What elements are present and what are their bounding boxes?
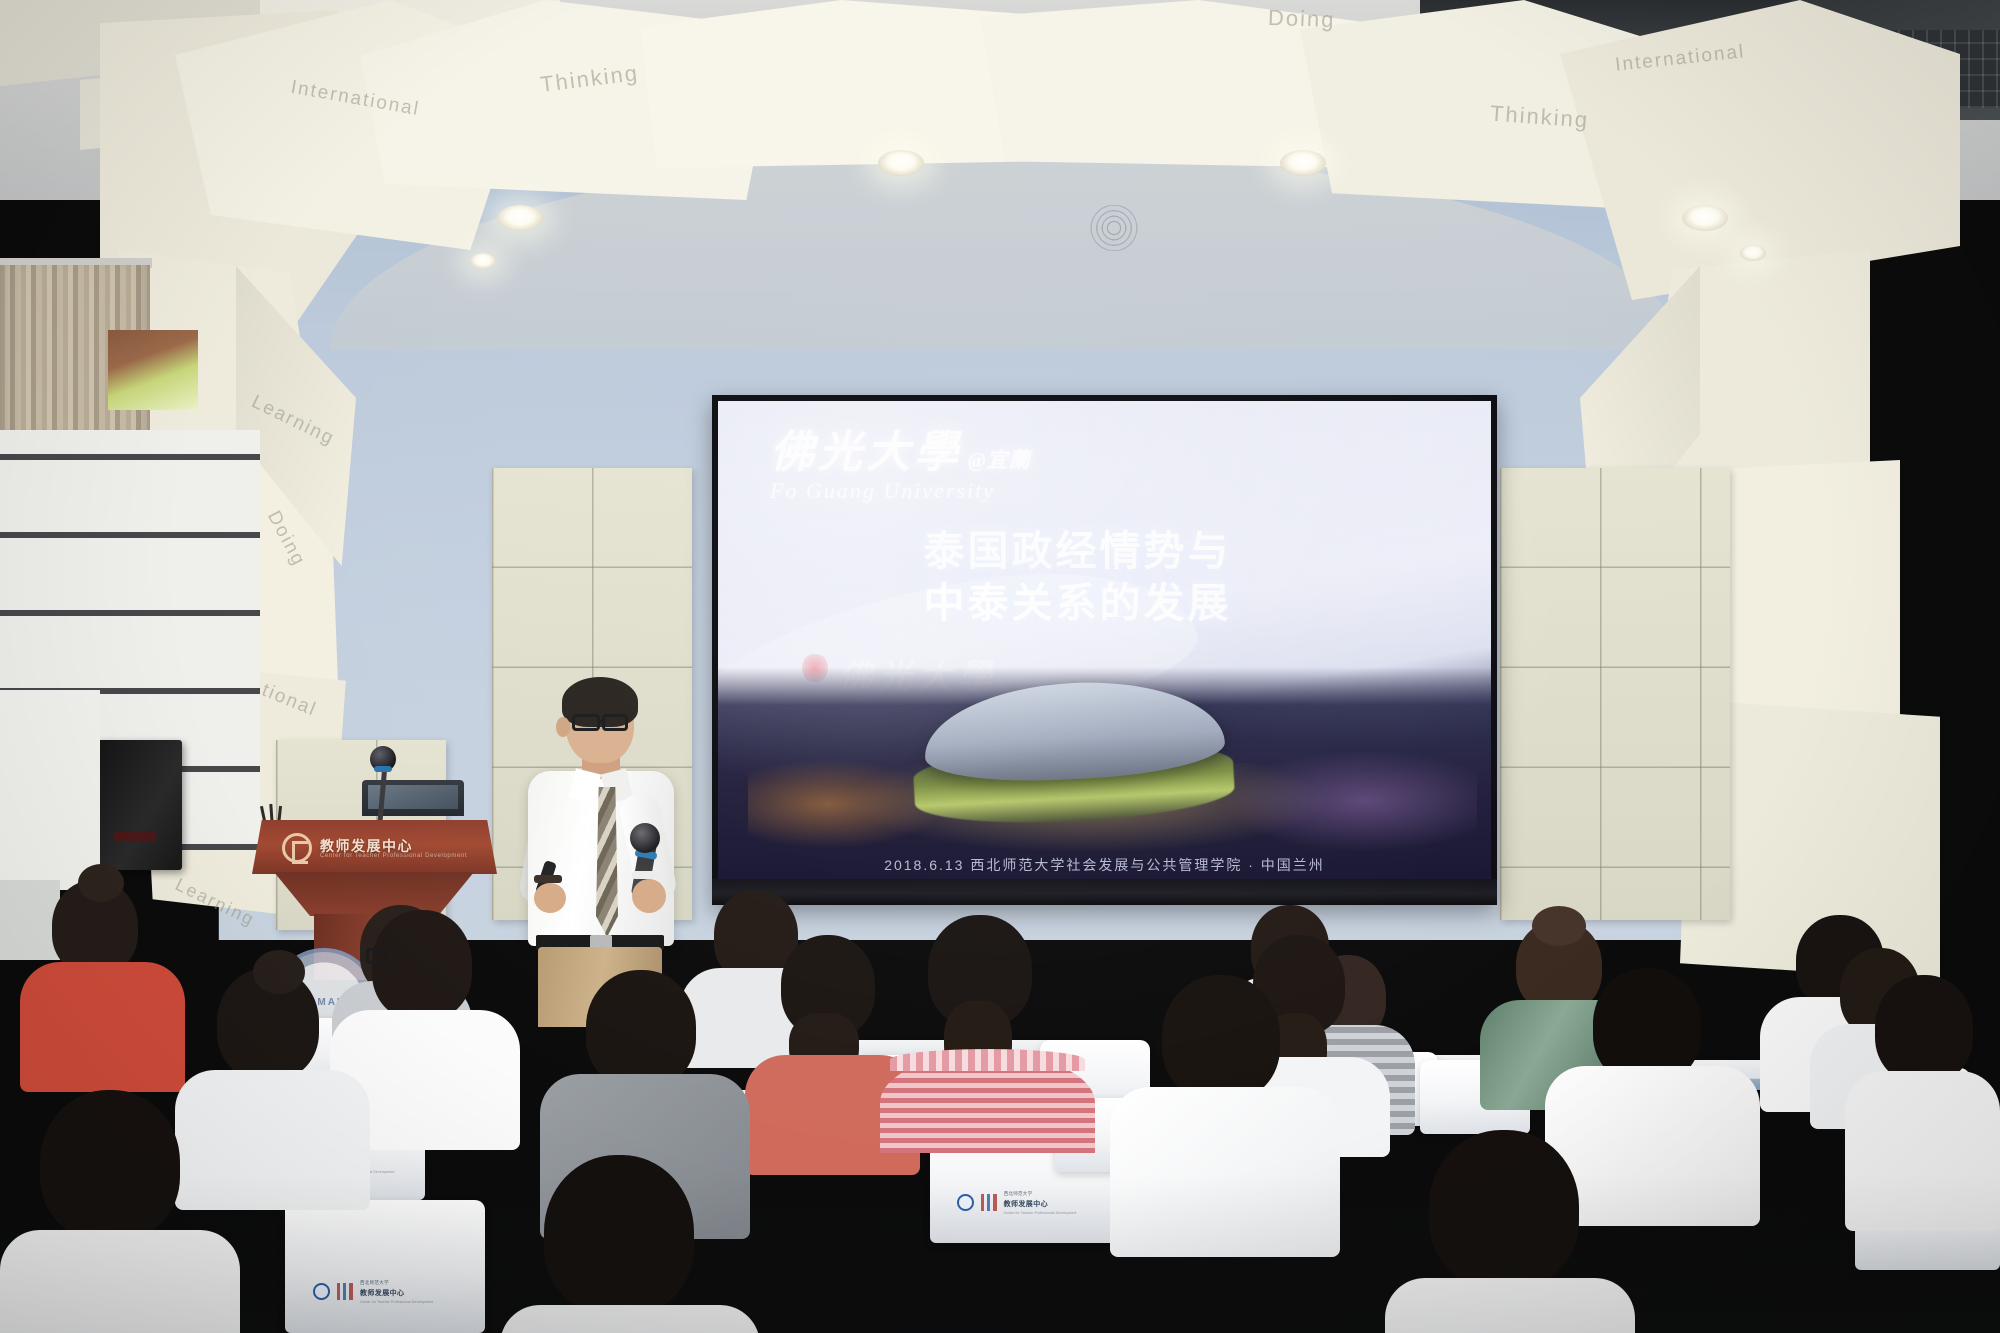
person-body (1845, 1071, 2000, 1231)
audience-person (1385, 1130, 1635, 1333)
slide-title-line-2: 中泰关系的发展 (718, 577, 1437, 629)
person-head (1429, 1130, 1579, 1288)
microphone-icon (630, 823, 660, 853)
person-head (372, 910, 472, 1020)
podium-sublabel: Center for Teacher Professional Developm… (320, 853, 467, 859)
chair-cover-text: 西北师范大学 教师发展中心 Center for Teacher Profess… (1004, 1191, 1077, 1215)
projector-arm (1822, 60, 1830, 90)
center-mark-icon (337, 1283, 353, 1300)
logo-english-name: Fo Guang University (770, 478, 1030, 504)
chair-cover-line1: 西北师范大学 (1004, 1191, 1077, 1197)
logo-cn-text: 佛光大學 (770, 428, 962, 477)
person-hair-bun (253, 950, 305, 994)
podium-logo-icon (282, 833, 312, 863)
laptop-on-podium (362, 780, 464, 816)
left-wall-panel (0, 690, 100, 890)
slide-stadium-photo: 2018.6.13 西北师范大学社会发展与公共管理学院 · 中国兰州 (718, 667, 1491, 879)
person-head (544, 1155, 694, 1315)
wristband-icon (534, 875, 562, 883)
wristwatch-icon (632, 871, 662, 879)
logo-campus-tag: @宜蘭 (968, 448, 1030, 472)
ceiling-downlight (470, 253, 496, 269)
chair-cover-text: 西北师范大学 教师发展中心 Center for Teacher Profess… (360, 1280, 433, 1304)
person-body (0, 1230, 240, 1333)
chair-cover-line3: Center for Teacher Professional Developm… (1004, 1211, 1077, 1215)
wall-word-doing-1: Doing (1268, 5, 1336, 33)
person-body (1385, 1278, 1635, 1333)
university-seal-icon (313, 1283, 330, 1300)
person-ruffle-collar (890, 1049, 1085, 1071)
projection-screen-frame: 佛光大學@宜蘭 Fo Guang University 泰国政经情势与 中泰关系… (712, 395, 1497, 905)
chair-cover-line2: 教师发展中心 (360, 1288, 433, 1298)
podium-mic-ring (374, 766, 392, 772)
slide-title-line-1: 泰国政经情势与 (718, 525, 1437, 577)
presenter-necktie (596, 787, 618, 937)
ceiling-downlight (1682, 205, 1728, 231)
chair-cover-logos: 西北师范大学 教师发展中心 Center for Teacher Profess… (957, 1191, 1077, 1215)
person-body (1110, 1087, 1340, 1257)
chair-cover-line3: Center for Teacher Professional Developm… (360, 1300, 433, 1304)
chair-cover-logos: 西北师范大学 教师发展中心 Center for Teacher Profess… (313, 1280, 433, 1304)
audience-person (0, 1090, 240, 1333)
pa-speaker (96, 740, 182, 870)
air-diffuser-icon (1078, 205, 1150, 251)
slide-content: 佛光大學@宜蘭 Fo Guang University 泰国政经情势与 中泰关系… (718, 401, 1491, 879)
chair-cover-line2: 教师发展中心 (1004, 1199, 1077, 1209)
audience-person (1110, 975, 1340, 1240)
glasses-lens-right (602, 714, 628, 731)
acoustic-panel-right (1500, 468, 1730, 920)
audience-person (1845, 975, 2000, 1225)
presenter-ear (556, 717, 570, 737)
lecture-hall-photo: Thinking International Doing Internation… (0, 0, 2000, 1333)
person-head (586, 970, 696, 1088)
audience-person (20, 880, 185, 1080)
podium-top: 教师发展中心 Center for Teacher Professional D… (252, 820, 497, 874)
center-mark-icon (981, 1194, 997, 1211)
ceiling-downlight (878, 150, 924, 176)
person-body (500, 1305, 760, 1333)
person-head (1875, 975, 1973, 1083)
ceiling-downlight (1740, 245, 1766, 261)
person-hair-bun (78, 864, 124, 902)
ceiling-downlight (497, 205, 543, 231)
ceiling-downlight (1280, 150, 1326, 176)
audience-chair-with-cover[interactable]: 西北师范大学 教师发展中心 Center for Teacher Profess… (285, 1200, 485, 1333)
person-hair-bun (1532, 906, 1586, 946)
person-head (40, 1090, 180, 1240)
presenter-right-hand (632, 879, 666, 913)
fo-guang-university-logo: 佛光大學@宜蘭 Fo Guang University (770, 431, 1030, 504)
projection-screen[interactable]: 佛光大學@宜蘭 Fo Guang University 泰国政经情势与 中泰关系… (718, 401, 1491, 879)
slide-footer-text: 2018.6.13 西北师范大学社会发展与公共管理学院 · 中国兰州 (718, 855, 1491, 875)
person-head (1162, 975, 1280, 1101)
glasses-bridge (599, 720, 604, 723)
glasses-icon (572, 714, 600, 731)
audience-person (500, 1155, 760, 1333)
chair-cover-line1: 西北师范大学 (360, 1280, 433, 1286)
slide-title: 泰国政经情势与 中泰关系的发展 (718, 525, 1437, 630)
glasses-icon (366, 948, 392, 964)
university-seal-icon (957, 1194, 974, 1211)
audience-person (880, 915, 1095, 1145)
person-body (20, 962, 185, 1092)
window-opening (108, 330, 198, 410)
presenter-left-hand (534, 883, 566, 913)
logo-chinese-name: 佛光大學@宜蘭 (770, 431, 1030, 475)
